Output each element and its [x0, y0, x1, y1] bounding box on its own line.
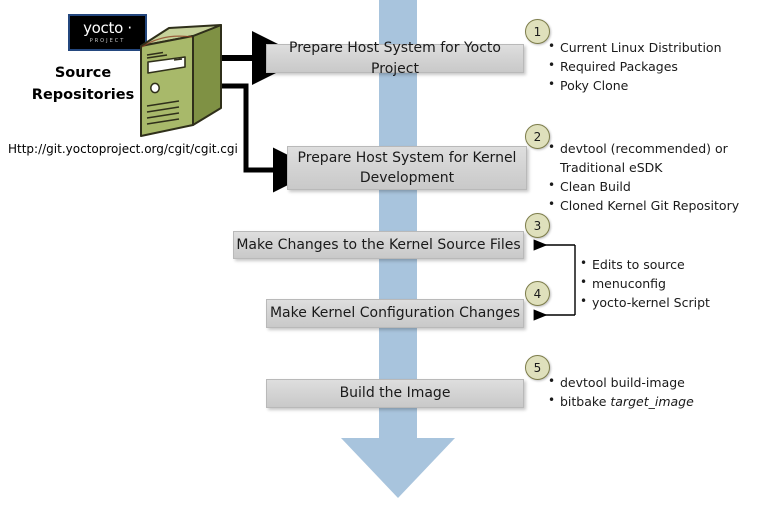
list-item: yocto-kernel Script	[580, 293, 760, 312]
diagram-canvas: yocto · PROJECT Source Repositories Http…	[0, 0, 769, 517]
process-box-label: Make Changes to the Kernel Source Files	[236, 235, 520, 255]
process-box-step-5[interactable]: Build the Image	[266, 379, 524, 408]
bullet-list-steps-3-4: Edits to source menuconfig yocto-kernel …	[580, 255, 760, 312]
server-icon	[133, 22, 225, 142]
step-badge-1: 1	[525, 19, 550, 44]
list-item: Current Linux Distribution	[548, 38, 763, 57]
list-item: Required Packages	[548, 57, 763, 76]
step-badge-2: 2	[525, 124, 550, 149]
step-badge-5: 5	[525, 355, 550, 380]
list-item: devtool (recommended) or Traditional eSD…	[548, 139, 766, 177]
flow-arrow-head	[341, 438, 455, 498]
list-item: bitbake target_image	[548, 392, 758, 411]
process-box-step-3[interactable]: Make Changes to the Kernel Source Files	[233, 231, 524, 259]
step-number: 1	[534, 25, 542, 39]
process-box-label: Make Kernel Configuration Changes	[270, 303, 520, 323]
list-item: Edits to source	[580, 255, 760, 274]
step-number: 3	[534, 219, 542, 233]
logo-secondary-text: PROJECT	[90, 39, 126, 44]
process-box-label: Prepare Host System for Kernel Developme…	[288, 148, 526, 189]
list-item: Poky Clone	[548, 76, 763, 95]
step-number: 2	[534, 130, 542, 144]
list-item-text: devtool build-image	[560, 375, 685, 390]
step-number: 5	[534, 361, 542, 375]
source-repositories-label: Source Repositories	[22, 62, 144, 107]
bullet-list-step-5: devtool build-image bitbake target_image	[548, 373, 758, 411]
list-item: Cloned Kernel Git Repository	[548, 196, 766, 215]
process-box-step-1[interactable]: Prepare Host System for Yocto Project	[266, 44, 524, 73]
list-item-emphasis: target_image	[610, 394, 693, 409]
step-number: 4	[534, 287, 542, 301]
list-item-text: bitbake	[560, 394, 610, 409]
step-badge-4: 4	[525, 281, 550, 306]
source-repositories-url: Http://git.yoctoproject.org/cgit/cgit.cg…	[8, 142, 238, 156]
process-box-step-2[interactable]: Prepare Host System for Kernel Developme…	[287, 146, 527, 190]
list-item: devtool build-image	[548, 373, 758, 392]
bullet-list-step-1: Current Linux Distribution Required Pack…	[548, 38, 763, 95]
list-item: Clean Build	[548, 177, 766, 196]
process-box-label: Prepare Host System for Yocto Project	[267, 38, 523, 79]
logo-primary-text: yocto ·	[83, 21, 132, 36]
step-badge-3: 3	[525, 213, 550, 238]
list-item: menuconfig	[580, 274, 760, 293]
process-box-label: Build the Image	[340, 383, 451, 403]
bullet-list-step-2: devtool (recommended) or Traditional eSD…	[548, 139, 766, 215]
process-box-step-4[interactable]: Make Kernel Configuration Changes	[266, 299, 524, 328]
